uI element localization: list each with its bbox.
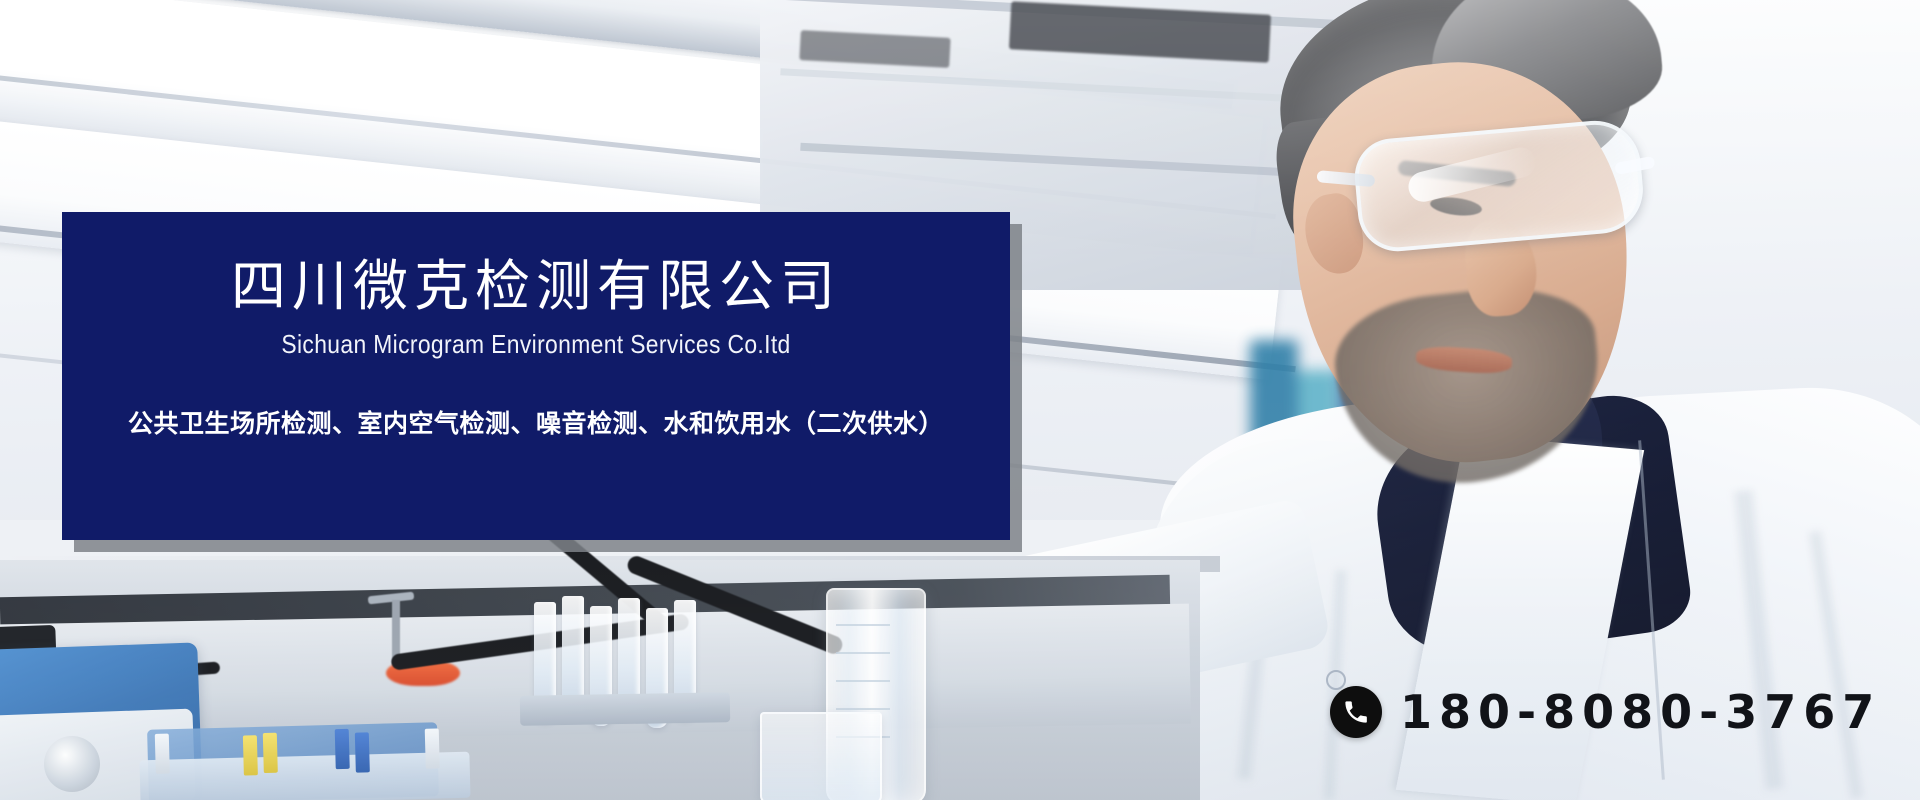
headline-panel-inner: 四川微克检测有限公司 Sichuan Microgram Environment… bbox=[62, 212, 1010, 540]
services-list: 公共卫生场所检测、室内空气检测、噪音检测、水和饮用水（二次供水） bbox=[62, 404, 1010, 440]
phone-icon bbox=[1330, 686, 1382, 738]
company-name-cn: 四川微克检测有限公司 bbox=[62, 258, 1010, 315]
headline-panel: 四川微克检测有限公司 Sichuan Microgram Environment… bbox=[62, 212, 1010, 540]
company-name-en: Sichuan Microgram Environment Services C… bbox=[119, 329, 953, 360]
contact-phone[interactable]: 180-8080-3767 bbox=[1330, 686, 1881, 738]
headline-title-block: 四川微克检测有限公司 Sichuan Microgram Environment… bbox=[62, 258, 1010, 360]
hero-banner: 四川微克检测有限公司 Sichuan Microgram Environment… bbox=[0, 0, 1920, 800]
phone-number[interactable]: 180-8080-3767 bbox=[1400, 689, 1881, 735]
